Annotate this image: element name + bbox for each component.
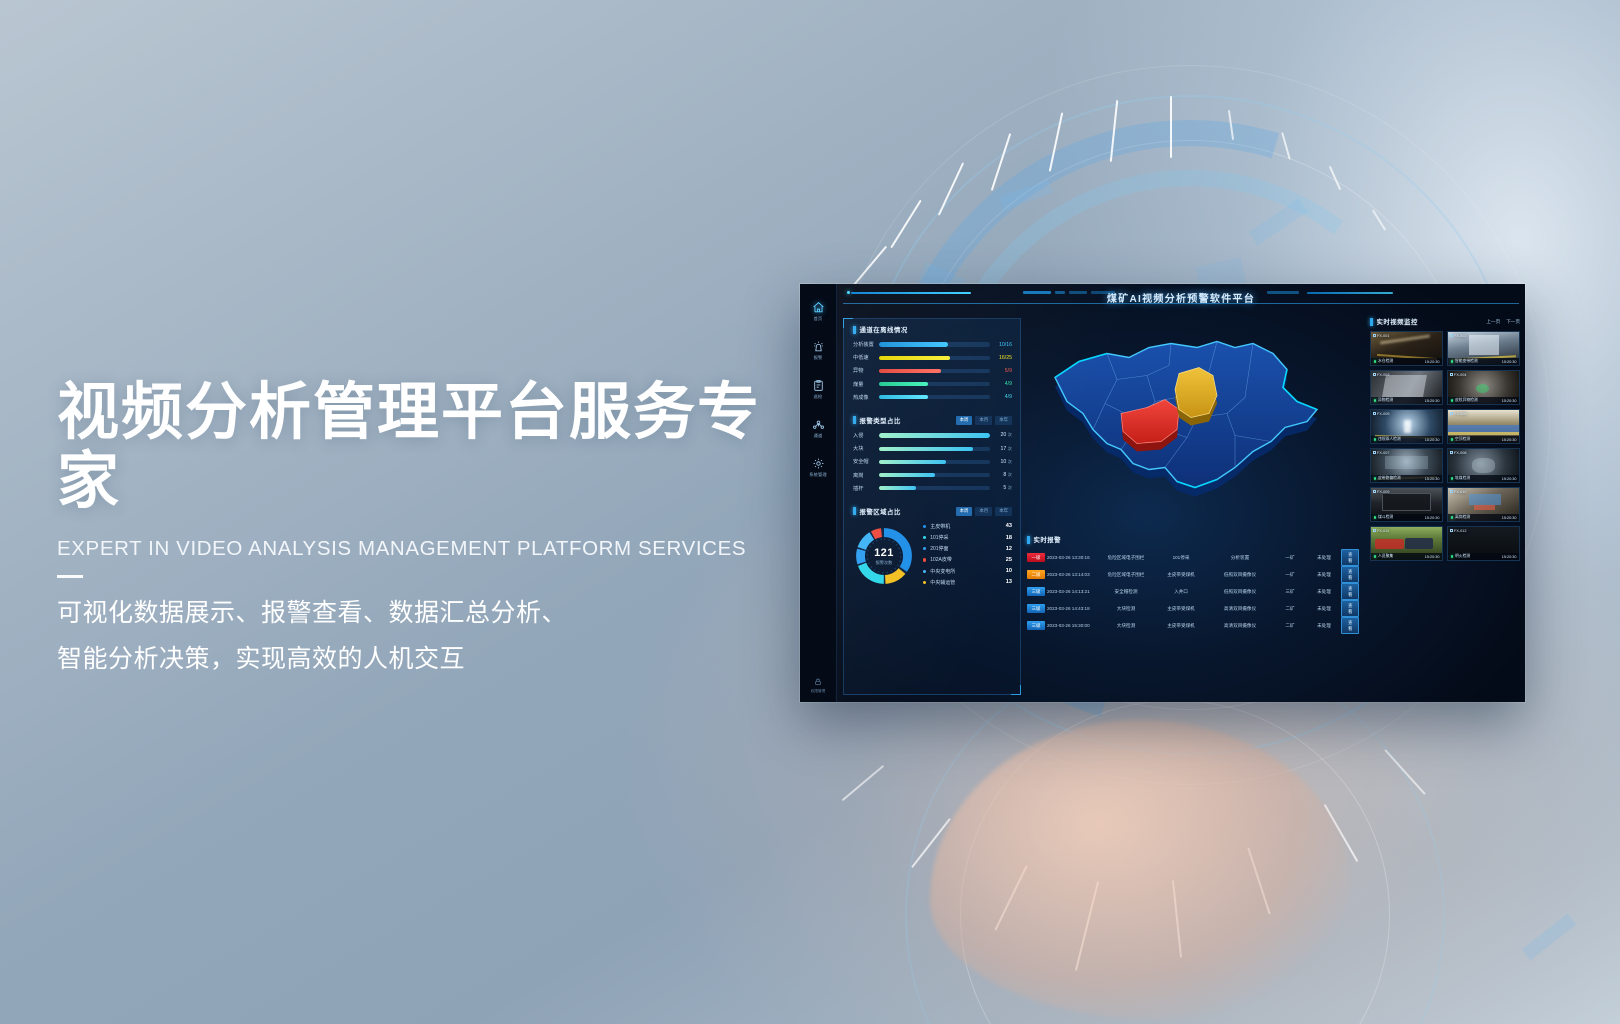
tab-year[interactable]: 本年 xyxy=(995,507,1012,516)
bar-track xyxy=(879,460,990,464)
alarm-type: 大块检测 xyxy=(1097,623,1155,629)
prev-page-button[interactable]: 上一页 xyxy=(1486,319,1500,325)
alarm-type: 安全帽检测 xyxy=(1097,589,1155,595)
camera-id-label: FX-008 xyxy=(1450,451,1466,455)
donut-center: 121 报警次数 xyxy=(853,525,915,587)
video-footer: 空顶检测 15:20:30 xyxy=(1448,436,1519,443)
table-row[interactable]: 三级 2023-03-26 15:30:00 大块检测 主皮带受煤机 高清双目摄… xyxy=(1027,617,1359,634)
channel-status-row: 异物 5/9 xyxy=(853,367,1012,374)
video-timestamp: 15:20:30 xyxy=(1425,477,1440,481)
tab-month[interactable]: 本月 xyxy=(975,507,992,516)
alarm-level-badge: 三级 xyxy=(1027,604,1047,613)
title-accent-bar xyxy=(1027,536,1030,544)
channel-status-header: 通道在离线情况 xyxy=(853,325,1012,334)
video-tile[interactable]: FX-004 皮纹异物检测 15:20:30 xyxy=(1447,370,1520,405)
bar-value: 16/25 xyxy=(990,355,1012,361)
camera-icon xyxy=(1373,529,1376,532)
detection-label: 空顶检测 xyxy=(1451,437,1471,442)
legend-label: 101停采 xyxy=(930,534,1006,541)
sidebar-item-alarm[interactable]: 报警 xyxy=(812,340,825,361)
alarm-device: 分析装置 xyxy=(1207,555,1273,561)
alarm-mine: 一矿 xyxy=(1273,572,1307,578)
status-led xyxy=(1451,438,1454,441)
detection-label: 智能皮带检测 xyxy=(1451,359,1478,364)
video-panel-title: 实时视频监控 xyxy=(1370,317,1418,326)
video-footer: 离岗检测 15:20:30 xyxy=(1448,514,1519,521)
video-tile[interactable]: FX-008 堆煤检测 15:20:30 xyxy=(1447,448,1520,483)
status-led xyxy=(1374,516,1377,519)
channel-status-row: 热成像 4/9 xyxy=(853,394,1012,401)
video-tile[interactable]: FX-002 智能皮带检测 15:20:30 xyxy=(1447,331,1520,366)
hero-copy: 视频分析管理平台服务专家 EXPERT IN VIDEO ANALYSIS MA… xyxy=(57,378,817,683)
status-led xyxy=(1374,555,1377,558)
status-badge: 未处理 xyxy=(1307,589,1341,595)
table-row[interactable]: 一级 2023-03-26 13:30:16 危险区域电子围栏 101停采 分析… xyxy=(1027,549,1359,566)
legend-value: 43 xyxy=(1006,523,1012,529)
camera-id-label: FX-006 xyxy=(1450,412,1466,416)
video-timestamp: 15:20:30 xyxy=(1425,555,1440,559)
camera-icon xyxy=(1373,334,1376,337)
sidebar-item-home[interactable]: 首页 xyxy=(812,301,825,322)
camera-icon xyxy=(1373,412,1376,415)
title-accent-bar xyxy=(1370,318,1373,326)
bar-value: 17次 xyxy=(990,446,1012,452)
dashboard-screen: 首页 报警 巡检 通道 xyxy=(800,284,1525,702)
realtime-alarm-header: 实时报警 xyxy=(1027,535,1359,544)
tab-week[interactable]: 本周 xyxy=(956,507,973,516)
bar-track xyxy=(879,382,990,386)
video-tile[interactable]: FX-003 异物检测 15:20:30 xyxy=(1370,370,1443,405)
camera-id-label: FX-001 xyxy=(1373,334,1389,338)
camera-id-label: FX-002 xyxy=(1450,334,1466,338)
video-tile[interactable]: FX-005 违规乘人检测 15:20:30 xyxy=(1370,409,1443,444)
view-button[interactable]: 查看 xyxy=(1341,549,1359,567)
video-timestamp: 15:20:30 xyxy=(1425,516,1440,520)
tab-month[interactable]: 本月 xyxy=(975,416,992,425)
legend-item: 101停采 18 xyxy=(923,534,1012,541)
detection-label: 煤斗检测 xyxy=(1374,515,1394,520)
legend-value: 25 xyxy=(1006,557,1012,563)
video-tile[interactable]: FX-011 人员聚集 15:20:30 xyxy=(1370,526,1443,561)
alarm-location: 入井口 xyxy=(1155,589,1207,595)
page-title: 视频分析管理平台服务专家 xyxy=(57,378,817,517)
bar-value: 4/9 xyxy=(990,381,1012,387)
camera-icon xyxy=(1450,412,1453,415)
bar-label: 安全帽 xyxy=(853,458,879,465)
legend-swatch xyxy=(923,581,926,584)
alarm-device: 低照双目摄像仪 xyxy=(1207,572,1273,578)
view-button[interactable]: 查看 xyxy=(1341,566,1359,584)
camera-icon xyxy=(1450,490,1453,493)
bar-label: 插杆 xyxy=(853,485,879,492)
status-led xyxy=(1374,399,1377,402)
dashboard-body: 通道在离线情况 分析装置 10/16 中低速 16/25 xyxy=(837,313,1525,702)
alarm-type-row: 离岗 8次 xyxy=(853,472,1012,479)
detection-label: 违规乘人检测 xyxy=(1374,437,1401,442)
region-map[interactable] xyxy=(1021,315,1361,530)
bar-value: 10/16 xyxy=(990,342,1012,348)
detection-label: 皮纹异物检测 xyxy=(1451,398,1478,403)
view-button-cell: 查看 xyxy=(1341,617,1359,635)
alarm-type: 危险区域电子围栏 xyxy=(1097,555,1155,561)
camera-id-label: FX-005 xyxy=(1373,412,1389,416)
video-timestamp: 15:20:30 xyxy=(1502,477,1517,481)
alarm-time: 2023-03-26 14:43:18 xyxy=(1047,606,1097,611)
alarm-type-range-tabs: 本周 本月 本年 xyxy=(956,416,1012,425)
title-accent-bar xyxy=(853,507,856,515)
alarm-level-badge: 二级 xyxy=(1027,570,1047,579)
legend-value: 10 xyxy=(1006,568,1012,574)
video-footer: 皮纹异物检测 15:20:30 xyxy=(1448,397,1519,404)
alarm-type-list: 入侵 20次 大块 17次 安全帽 10次 xyxy=(853,432,1012,492)
legend-label: 主皮带机 xyxy=(930,523,1006,530)
donut-legend: 主皮带机 43 101停采 18 201停面 12 xyxy=(923,523,1012,590)
status-led xyxy=(1451,399,1454,402)
table-row[interactable]: 三级 2023-03-26 14:13:21 安全帽检测 入井口 低照双目摄像仪… xyxy=(1027,583,1359,600)
alarm-location: 101停采 xyxy=(1155,555,1207,561)
bar-value: 5/9 xyxy=(990,368,1012,374)
sidebar-footer-label: 权限管理 xyxy=(811,689,825,694)
alarm-location: 主皮带受煤机 xyxy=(1155,572,1207,578)
bar-value: 8次 xyxy=(990,472,1012,478)
divider xyxy=(57,575,83,578)
alarm-total-label: 报警次数 xyxy=(876,560,893,566)
legend-item: 201停面 12 xyxy=(923,545,1012,552)
video-tile[interactable]: FX-010 离岗检测 15:20:30 xyxy=(1447,487,1520,522)
view-button-cell: 查看 xyxy=(1341,566,1359,584)
alarm-area-title: 报警区域占比 xyxy=(853,507,901,516)
sidebar-item-label: 报警 xyxy=(814,355,823,361)
alarm-type-title: 报警类型占比 xyxy=(853,416,901,425)
tab-year[interactable]: 本年 xyxy=(995,416,1012,425)
detection-label: 堆煤检测 xyxy=(1451,476,1471,481)
view-button-cell: 查看 xyxy=(1341,583,1359,601)
alarm-time: 2023-03-26 15:30:00 xyxy=(1047,623,1097,628)
video-timestamp: 15:20:30 xyxy=(1502,360,1517,364)
legend-item: 102A皮带 25 xyxy=(923,556,1012,563)
title-accent-bar xyxy=(853,326,856,334)
alarm-type-row: 入侵 20次 xyxy=(853,432,1012,439)
channel-status-list: 分析装置 10/16 中低速 16/25 异物 5/9 xyxy=(853,341,1012,401)
alarm-time: 2023-03-26 14:13:21 xyxy=(1047,589,1097,594)
realtime-alarm-section: 实时报警 一级 2023-03-26 13:30:16 危险区域电子围栏 101… xyxy=(1027,535,1359,696)
legend-swatch xyxy=(923,536,926,539)
dashboard-monitor: 首页 报警 巡检 通道 xyxy=(800,284,1525,702)
alarm-level-badge: 三级 xyxy=(1027,621,1047,630)
alarm-area-range-tabs: 本周 本月 本年 xyxy=(956,507,1012,516)
alarm-type-header: 报警类型占比 本周 本月 本年 xyxy=(853,416,1012,425)
detection-label: 皮带跑偏检测 xyxy=(1374,476,1401,481)
alarm-level-badge: 三级 xyxy=(1027,587,1047,596)
legend-label: 中央变电所 xyxy=(930,568,1006,575)
video-timestamp: 15:20:30 xyxy=(1425,399,1440,403)
hero-description-line-2: 智能分析决策，实现高效的人机交互 xyxy=(57,636,817,683)
camera-id-label: FX-007 xyxy=(1373,451,1389,455)
alarm-mine: 二矿 xyxy=(1273,623,1307,629)
status-badge: 未处理 xyxy=(1307,572,1341,578)
alarm-mine: 三矿 xyxy=(1273,589,1307,595)
camera-id-label: FX-010 xyxy=(1450,490,1466,494)
legend-swatch xyxy=(923,525,926,528)
alarm-device: 高清双目摄像仪 xyxy=(1207,606,1273,612)
camera-icon xyxy=(1373,373,1376,376)
camera-icon xyxy=(1450,451,1453,454)
status-led xyxy=(1451,477,1454,480)
dashboard-main: 煤矿AI视频分析预警软件平台 通道在离线情况 分析装置 xyxy=(837,284,1525,702)
camera-id-label: FX-012 xyxy=(1450,529,1466,533)
channel-status-row: 中低速 16/25 xyxy=(853,354,1012,361)
camera-icon xyxy=(1373,490,1376,493)
alarm-mine: 一矿 xyxy=(1273,555,1307,561)
video-footer: 人员聚集 15:20:30 xyxy=(1371,553,1442,560)
bar-label: 大块 xyxy=(853,445,879,452)
view-button[interactable]: 查看 xyxy=(1341,617,1359,635)
detection-label: 水仓检测 xyxy=(1374,359,1394,364)
bar-value: 5次 xyxy=(990,485,1012,491)
legend-swatch xyxy=(923,558,926,561)
bar-track xyxy=(879,356,990,360)
camera-id-label: FX-009 xyxy=(1373,490,1389,494)
alarm-time: 2023-03-26 13:30:16 xyxy=(1047,555,1097,560)
home-icon xyxy=(812,301,825,314)
channel-status-row: 煤量 4/9 xyxy=(853,381,1012,388)
bar-label: 异物 xyxy=(853,367,879,374)
alarm-type: 大块检测 xyxy=(1097,606,1155,612)
left-stats-panel: 通道在离线情况 分析装置 10/16 中低速 16/25 xyxy=(843,318,1021,695)
bar-track xyxy=(879,342,990,346)
video-timestamp: 15:20:30 xyxy=(1425,360,1440,364)
alarm-device: 低照双目摄像仪 xyxy=(1207,589,1273,595)
center-column: 实时报警 一级 2023-03-26 13:30:16 危险区域电子围栏 101… xyxy=(1021,313,1365,702)
bar-value: 10次 xyxy=(990,459,1012,465)
video-footer: 违规乘人检测 15:20:30 xyxy=(1371,436,1442,443)
bar-track xyxy=(879,473,990,477)
donut-chart: 121 报警次数 xyxy=(853,525,915,587)
alarm-area-header: 报警区域占比 本周 本月 本年 xyxy=(853,507,1012,516)
camera-icon xyxy=(1373,451,1376,454)
alarm-type-row: 插杆 5次 xyxy=(853,485,1012,492)
alarm-light-icon xyxy=(812,340,825,353)
view-button[interactable]: 查看 xyxy=(1341,583,1359,601)
camera-id-label: FX-004 xyxy=(1450,373,1466,377)
alarm-type: 危险区域电子围栏 xyxy=(1097,572,1155,578)
detection-label: 明火检测 xyxy=(1451,554,1471,559)
hero-description-line-1: 可视化数据展示、报警查看、数据汇总分析、 xyxy=(57,590,817,637)
channel-status-title: 通道在离线情况 xyxy=(853,325,908,334)
video-monitor-panel: 实时视频监控 上一页 下一页 FX- xyxy=(1365,313,1525,702)
bar-label: 煤量 xyxy=(853,381,879,388)
alarm-total-value: 121 xyxy=(874,547,894,559)
video-panel-header: 实时视频监控 上一页 下一页 xyxy=(1370,317,1520,326)
status-led xyxy=(1374,360,1377,363)
legend-swatch xyxy=(923,570,926,573)
channel-status-row: 分析装置 10/16 xyxy=(853,341,1012,348)
bar-label: 热成像 xyxy=(853,394,879,401)
legend-value: 18 xyxy=(1006,535,1012,541)
camera-icon xyxy=(1450,529,1453,532)
video-footer: 皮带跑偏检测 15:20:30 xyxy=(1371,475,1442,482)
video-footer: 明火检测 15:20:30 xyxy=(1448,553,1519,560)
video-footer: 智能皮带检测 15:20:30 xyxy=(1448,358,1519,365)
realtime-alarm-title: 实时报警 xyxy=(1034,535,1062,544)
video-footer: 异物检测 15:20:30 xyxy=(1371,397,1442,404)
title-accent-bar xyxy=(853,416,856,424)
video-tile[interactable]: FX-012 明火检测 15:20:30 xyxy=(1447,526,1520,561)
alarm-location: 主皮带受煤机 xyxy=(1155,606,1207,612)
alarm-location: 主皮带受煤机 xyxy=(1155,623,1207,629)
video-timestamp: 15:20:30 xyxy=(1502,438,1517,442)
bar-track xyxy=(879,369,990,373)
bar-label: 分析装置 xyxy=(853,341,879,348)
detection-label: 异物检测 xyxy=(1374,398,1394,403)
view-button-cell: 查看 xyxy=(1341,549,1359,567)
alarm-device: 高清双目摄像仪 xyxy=(1207,623,1273,629)
video-grid: FX-001 水仓检测 15:20:30 FX-002 xyxy=(1370,331,1520,561)
status-led xyxy=(1451,516,1454,519)
status-led xyxy=(1451,555,1454,558)
view-button[interactable]: 查看 xyxy=(1341,600,1359,618)
table-row[interactable]: 二级 2023-03-26 13:14:03 危险区域电子围栏 主皮带受煤机 低… xyxy=(1027,566,1359,583)
status-led xyxy=(1374,438,1377,441)
camera-id-label: FX-003 xyxy=(1373,373,1389,377)
video-tile[interactable]: FX-001 水仓检测 15:20:30 xyxy=(1370,331,1443,366)
video-tile[interactable]: FX-007 皮带跑偏检测 15:20:30 xyxy=(1370,448,1443,483)
legend-item: 主皮带机 43 xyxy=(923,523,1012,530)
tab-week[interactable]: 本周 xyxy=(956,416,973,425)
legend-item: 中央变电所 10 xyxy=(923,568,1012,575)
page-subtitle: EXPERT IN VIDEO ANALYSIS MANAGEMENT PLAT… xyxy=(57,537,817,561)
bar-track xyxy=(879,447,990,451)
next-page-button[interactable]: 下一页 xyxy=(1506,319,1520,325)
dashboard-topbar: 煤矿AI视频分析预警软件平台 xyxy=(837,284,1525,313)
legend-swatch xyxy=(923,547,926,550)
bar-label: 离岗 xyxy=(853,472,879,479)
status-badge: 未处理 xyxy=(1307,623,1341,629)
bar-track xyxy=(879,395,990,399)
bar-value: 20次 xyxy=(990,432,1012,438)
video-footer: 水仓检测 15:20:30 xyxy=(1371,358,1442,365)
video-pager: 上一页 下一页 xyxy=(1486,319,1520,325)
video-timestamp: 15:20:30 xyxy=(1502,555,1517,559)
video-footer: 煤斗检测 15:20:30 xyxy=(1371,514,1442,521)
sidebar-item-label: 首页 xyxy=(814,316,823,322)
status-led xyxy=(1451,360,1454,363)
camera-id-label: FX-011 xyxy=(1373,529,1389,533)
video-footer: 堆煤检测 15:20:30 xyxy=(1448,475,1519,482)
status-led xyxy=(1374,477,1377,480)
dashboard-title: 煤矿AI视频分析预警软件平台 xyxy=(837,290,1525,305)
video-timestamp: 15:20:30 xyxy=(1502,516,1517,520)
alarm-type-row: 大块 17次 xyxy=(853,445,1012,452)
legend-item: 中央辅运管 13 xyxy=(923,579,1012,586)
legend-label: 102A皮带 xyxy=(930,556,1006,563)
bar-label: 中低速 xyxy=(853,354,879,361)
video-tile[interactable]: FX-006 空顶检测 15:20:30 xyxy=(1447,409,1520,444)
table-row[interactable]: 三级 2023-03-26 14:43:18 大块检测 主皮带受煤机 高清双目摄… xyxy=(1027,600,1359,617)
legend-value: 12 xyxy=(1006,546,1012,552)
legend-label: 201停面 xyxy=(930,545,1006,552)
camera-icon xyxy=(1450,334,1453,337)
alarm-mine: 二矿 xyxy=(1273,606,1307,612)
detection-label: 人员聚集 xyxy=(1374,554,1394,559)
bar-track xyxy=(879,486,990,490)
alarm-time: 2023-03-26 13:14:03 xyxy=(1047,572,1097,577)
legend-value: 13 xyxy=(1006,579,1012,585)
view-button-cell: 查看 xyxy=(1341,600,1359,618)
video-timestamp: 15:20:30 xyxy=(1502,399,1517,403)
detection-label: 离岗检测 xyxy=(1451,515,1471,520)
legend-label: 中央辅运管 xyxy=(930,579,1006,586)
status-badge: 未处理 xyxy=(1307,606,1341,612)
video-tile[interactable]: FX-009 煤斗检测 15:20:30 xyxy=(1370,487,1443,522)
bar-value: 4/9 xyxy=(990,394,1012,400)
status-badge: 未处理 xyxy=(1307,555,1341,561)
bar-track xyxy=(879,433,990,437)
alarm-level-badge: 一级 xyxy=(1027,553,1047,562)
video-timestamp: 15:20:30 xyxy=(1425,438,1440,442)
alarm-type-row: 安全帽 10次 xyxy=(853,458,1012,465)
alarm-area-chart: 121 报警次数 主皮带机 43 xyxy=(853,523,1012,590)
bar-label: 入侵 xyxy=(853,432,879,439)
camera-icon xyxy=(1450,373,1453,376)
